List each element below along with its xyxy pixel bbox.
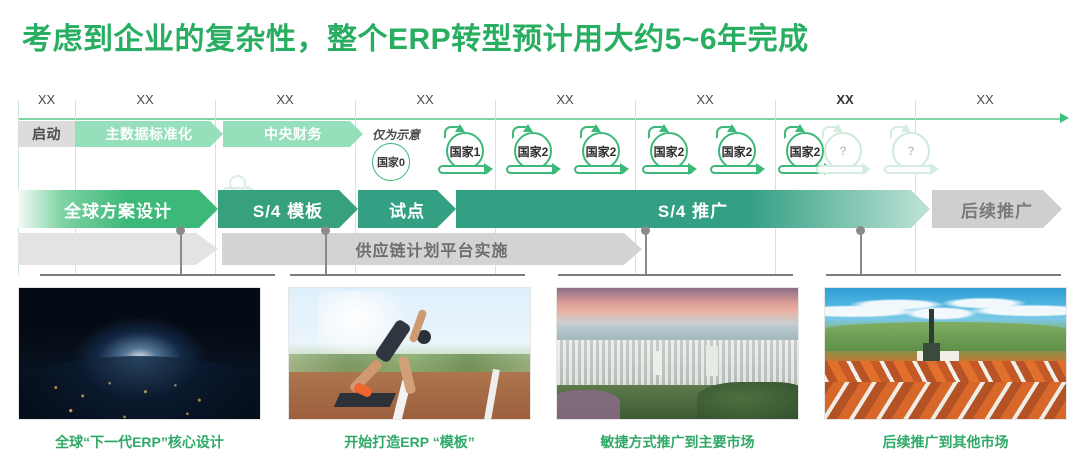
pin-base-3 — [558, 274, 793, 276]
workstream-bar-global-design[interactable]: 全球方案设计 — [18, 190, 218, 228]
refresh-arrow-tip-icon — [795, 124, 805, 132]
supply-chain-bar[interactable]: 供应链计划平台实施 — [222, 233, 642, 265]
refresh-arrow-tip-icon — [833, 124, 843, 132]
progress-arrow-icon — [930, 163, 939, 175]
photo-sprinter — [289, 288, 530, 419]
timeline-tick-4: XX — [495, 92, 635, 107]
progress-bar-icon — [574, 165, 626, 174]
country-badge-0[interactable]: 国家1 — [434, 128, 498, 178]
gridline — [915, 100, 916, 275]
timeline-tick-5: XX — [635, 92, 775, 107]
progress-bar-icon — [506, 165, 558, 174]
timeline-tick-0: XX — [18, 92, 75, 107]
refresh-arrow-tip-icon — [591, 124, 601, 132]
timeline-tick-7: XX — [915, 92, 1055, 107]
country-badge-label: 国家2 — [654, 143, 685, 160]
pin-line-1 — [180, 231, 182, 275]
progress-bar-icon — [710, 165, 762, 174]
photo-caption-3: 敏捷方式推广到主要市场 — [556, 432, 799, 452]
progress-arrow-icon — [620, 163, 629, 175]
church-spire — [929, 309, 934, 349]
illustration-note: 仅为示意 — [372, 126, 420, 143]
country-badge-2[interactable]: 国家2 — [570, 128, 634, 178]
photo-coastal-city — [557, 288, 798, 419]
country-badge-label: 国家2 — [722, 143, 753, 160]
phase-chip-launch[interactable]: 启动 — [18, 121, 75, 147]
refresh-arrow-tip-icon — [659, 124, 669, 132]
timeline-tick-2: XX — [215, 92, 355, 107]
progress-bar-icon — [884, 165, 936, 174]
supply-chain-prefix-bar — [18, 233, 218, 265]
rooftops-foreground — [825, 382, 1066, 419]
photo-global-design — [18, 287, 261, 420]
country-badge-label: 国家2 — [586, 143, 617, 160]
pin-base-1 — [40, 274, 275, 276]
phase-chip-master-data[interactable]: 主数据标准化 — [75, 121, 223, 147]
country-badge-seed-label: 国家0 — [377, 154, 405, 170]
photo-caption-2: 开始打造ERP “模板” — [288, 432, 531, 452]
photo-earth-at-night — [19, 288, 260, 419]
country-badge-4[interactable]: 国家2 — [706, 128, 770, 178]
photo-european-town — [825, 288, 1066, 419]
high-rise — [653, 351, 662, 375]
timeline-tick-6: XX — [775, 92, 915, 107]
workstream-bar-future-rollout[interactable]: 后续推广 — [932, 190, 1062, 228]
timeline-axis — [18, 118, 1062, 120]
foreground-bush — [556, 390, 620, 420]
photo-caption-1: 全球“下一代ERP”核心设计 — [18, 432, 261, 452]
page-title: 考虑到企业的复杂性，整个ERP转型预计用大约5~6年完成 — [22, 14, 1062, 58]
country-badge-3[interactable]: 国家2 — [638, 128, 702, 178]
workstream-bar-pilot[interactable]: 试点 — [358, 190, 456, 228]
country-badge-1[interactable]: 国家2 — [502, 128, 566, 178]
progress-bar-icon — [438, 165, 490, 174]
pin-line-4 — [860, 231, 862, 275]
workstream-bar-s4-rollout[interactable]: S/4 推广 — [456, 190, 930, 228]
pin-base-2 — [290, 274, 525, 276]
high-rise — [706, 346, 718, 376]
hill-line — [825, 322, 1066, 351]
cloud-layer — [825, 291, 1066, 325]
photo-template-build — [288, 287, 531, 420]
country-badge-label: 国家2 — [518, 143, 549, 160]
workstream-bar-s4-template[interactable]: S/4 模板 — [218, 190, 358, 228]
country-badge-label: ? — [907, 144, 914, 158]
progress-arrow-icon — [688, 163, 697, 175]
photo-major-markets — [556, 287, 799, 420]
progress-arrow-icon — [484, 163, 493, 175]
photo-other-markets — [824, 287, 1067, 420]
refresh-arrow-tip-icon — [901, 124, 911, 132]
refresh-arrow-tip-icon — [727, 124, 737, 132]
progress-arrow-icon — [756, 163, 765, 175]
timeline-tick-3: XX — [355, 92, 495, 107]
country-badge-7-unknown[interactable]: ? — [880, 128, 944, 178]
pin-line-2 — [325, 231, 327, 275]
country-badge-6-unknown[interactable]: ? — [812, 128, 876, 178]
timeline-tick-1: XX — [75, 92, 215, 107]
pin-base-4 — [826, 274, 1061, 276]
refresh-arrow-tip-icon — [455, 124, 465, 132]
progress-bar-icon — [642, 165, 694, 174]
track-lane-line — [481, 369, 500, 420]
progress-arrow-icon — [862, 163, 871, 175]
country-badge-label: 国家1 — [450, 143, 481, 160]
foreground-bush — [697, 382, 799, 420]
country-badge-label: ? — [839, 144, 846, 158]
photo-caption-4: 后续推广到其他市场 — [824, 432, 1067, 452]
phase-chip-central-finance[interactable]: 中央财务 — [223, 121, 363, 147]
timeline-arrow-icon — [1060, 113, 1069, 123]
progress-bar-icon — [816, 165, 868, 174]
pin-line-3 — [645, 231, 647, 275]
slide-canvas: 考虑到企业的复杂性，整个ERP转型预计用大约5~6年完成 XX XX XX XX… — [0, 0, 1080, 467]
country-badge-seed: 国家0 — [372, 143, 410, 181]
gridline — [775, 100, 776, 275]
refresh-arrow-tip-icon — [523, 124, 533, 132]
progress-arrow-icon — [552, 163, 561, 175]
